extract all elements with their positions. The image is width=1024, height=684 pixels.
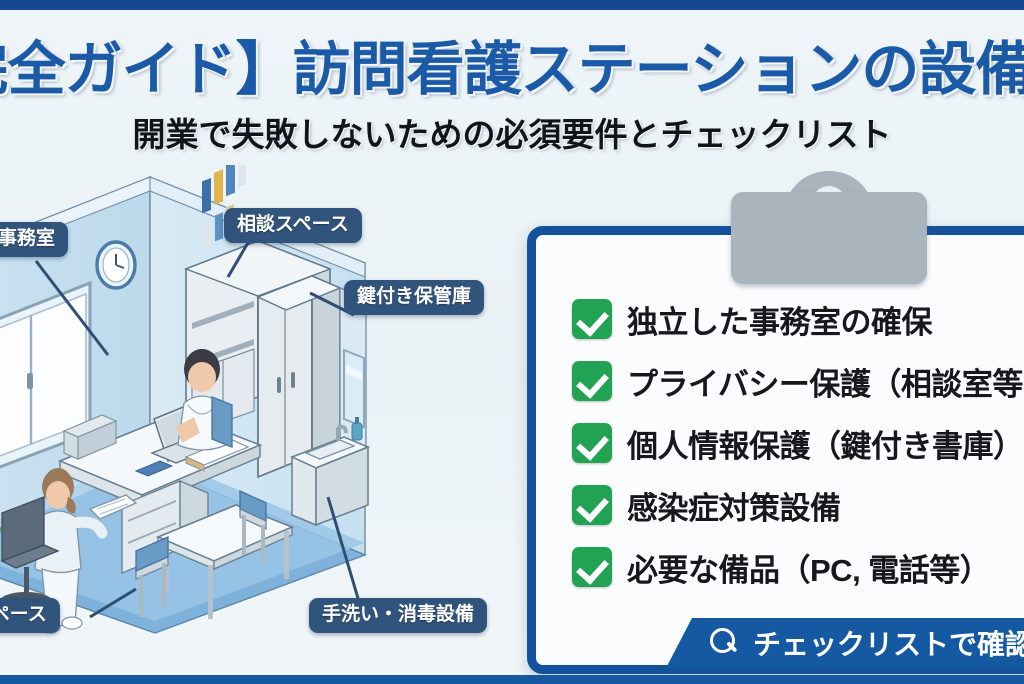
- checklist-item[interactable]: 個人情報保護（鍵付き書庫）: [572, 412, 1024, 474]
- top-accent-bar: [0, 0, 1024, 10]
- cta-banner[interactable]: チェックリストで確認: [666, 618, 1024, 668]
- infographic-canvas: 完全ガイド】訪問看護ステーションの設備基 開業で失敗しないための必須要件とチェッ…: [0, 0, 1024, 684]
- checkbox-checked-icon[interactable]: [572, 423, 612, 463]
- callout-waiting-space: スペース: [0, 598, 60, 633]
- requirements-checklist: 独立した事務室の確保 プライバシー保護（相談室等 個人情報保護（鍵付き書庫） 感…: [572, 288, 1024, 598]
- callout-consult-space: 相談スペース: [224, 208, 362, 243]
- callout-office: の事務室: [0, 222, 68, 257]
- checkbox-checked-icon[interactable]: [572, 361, 612, 401]
- bottom-accent-bar: [0, 675, 1024, 684]
- page-title: 完全ガイド】訪問看護ステーションの設備基: [0, 22, 1024, 106]
- checklist-item-label: 個人情報保護（鍵付き書庫）: [627, 421, 1024, 466]
- callout-locked-storage: 鍵付き保管庫: [344, 280, 484, 315]
- cta-label: チェックリストで確認: [753, 623, 1024, 663]
- checkbox-checked-icon[interactable]: [572, 547, 612, 587]
- checklist-item-label: 必要な備品（PC, 電話等）: [627, 545, 990, 590]
- checklist-item-label: 独立した事務室の確保: [627, 297, 932, 342]
- checklist-item-label: プライバシー保護（相談室等: [627, 359, 1023, 404]
- search-icon: [710, 628, 740, 658]
- checkbox-checked-icon[interactable]: [572, 485, 612, 525]
- checklist-item[interactable]: 感染症対策設備: [572, 474, 1024, 536]
- checklist-item[interactable]: 必要な備品（PC, 電話等）: [572, 536, 1024, 598]
- checklist-item[interactable]: 独立した事務室の確保: [572, 288, 1024, 350]
- clipboard-clip-icon: [731, 192, 927, 284]
- checkbox-checked-icon[interactable]: [572, 299, 612, 339]
- checklist-item[interactable]: プライバシー保護（相談室等: [572, 350, 1024, 412]
- callout-handwash-disinfection: 手洗い・消毒設備: [309, 598, 487, 633]
- checklist-item-label: 感染症対策設備: [627, 483, 841, 528]
- page-subtitle: 開業で失敗しないための必須要件とチェックリスト: [0, 108, 1024, 156]
